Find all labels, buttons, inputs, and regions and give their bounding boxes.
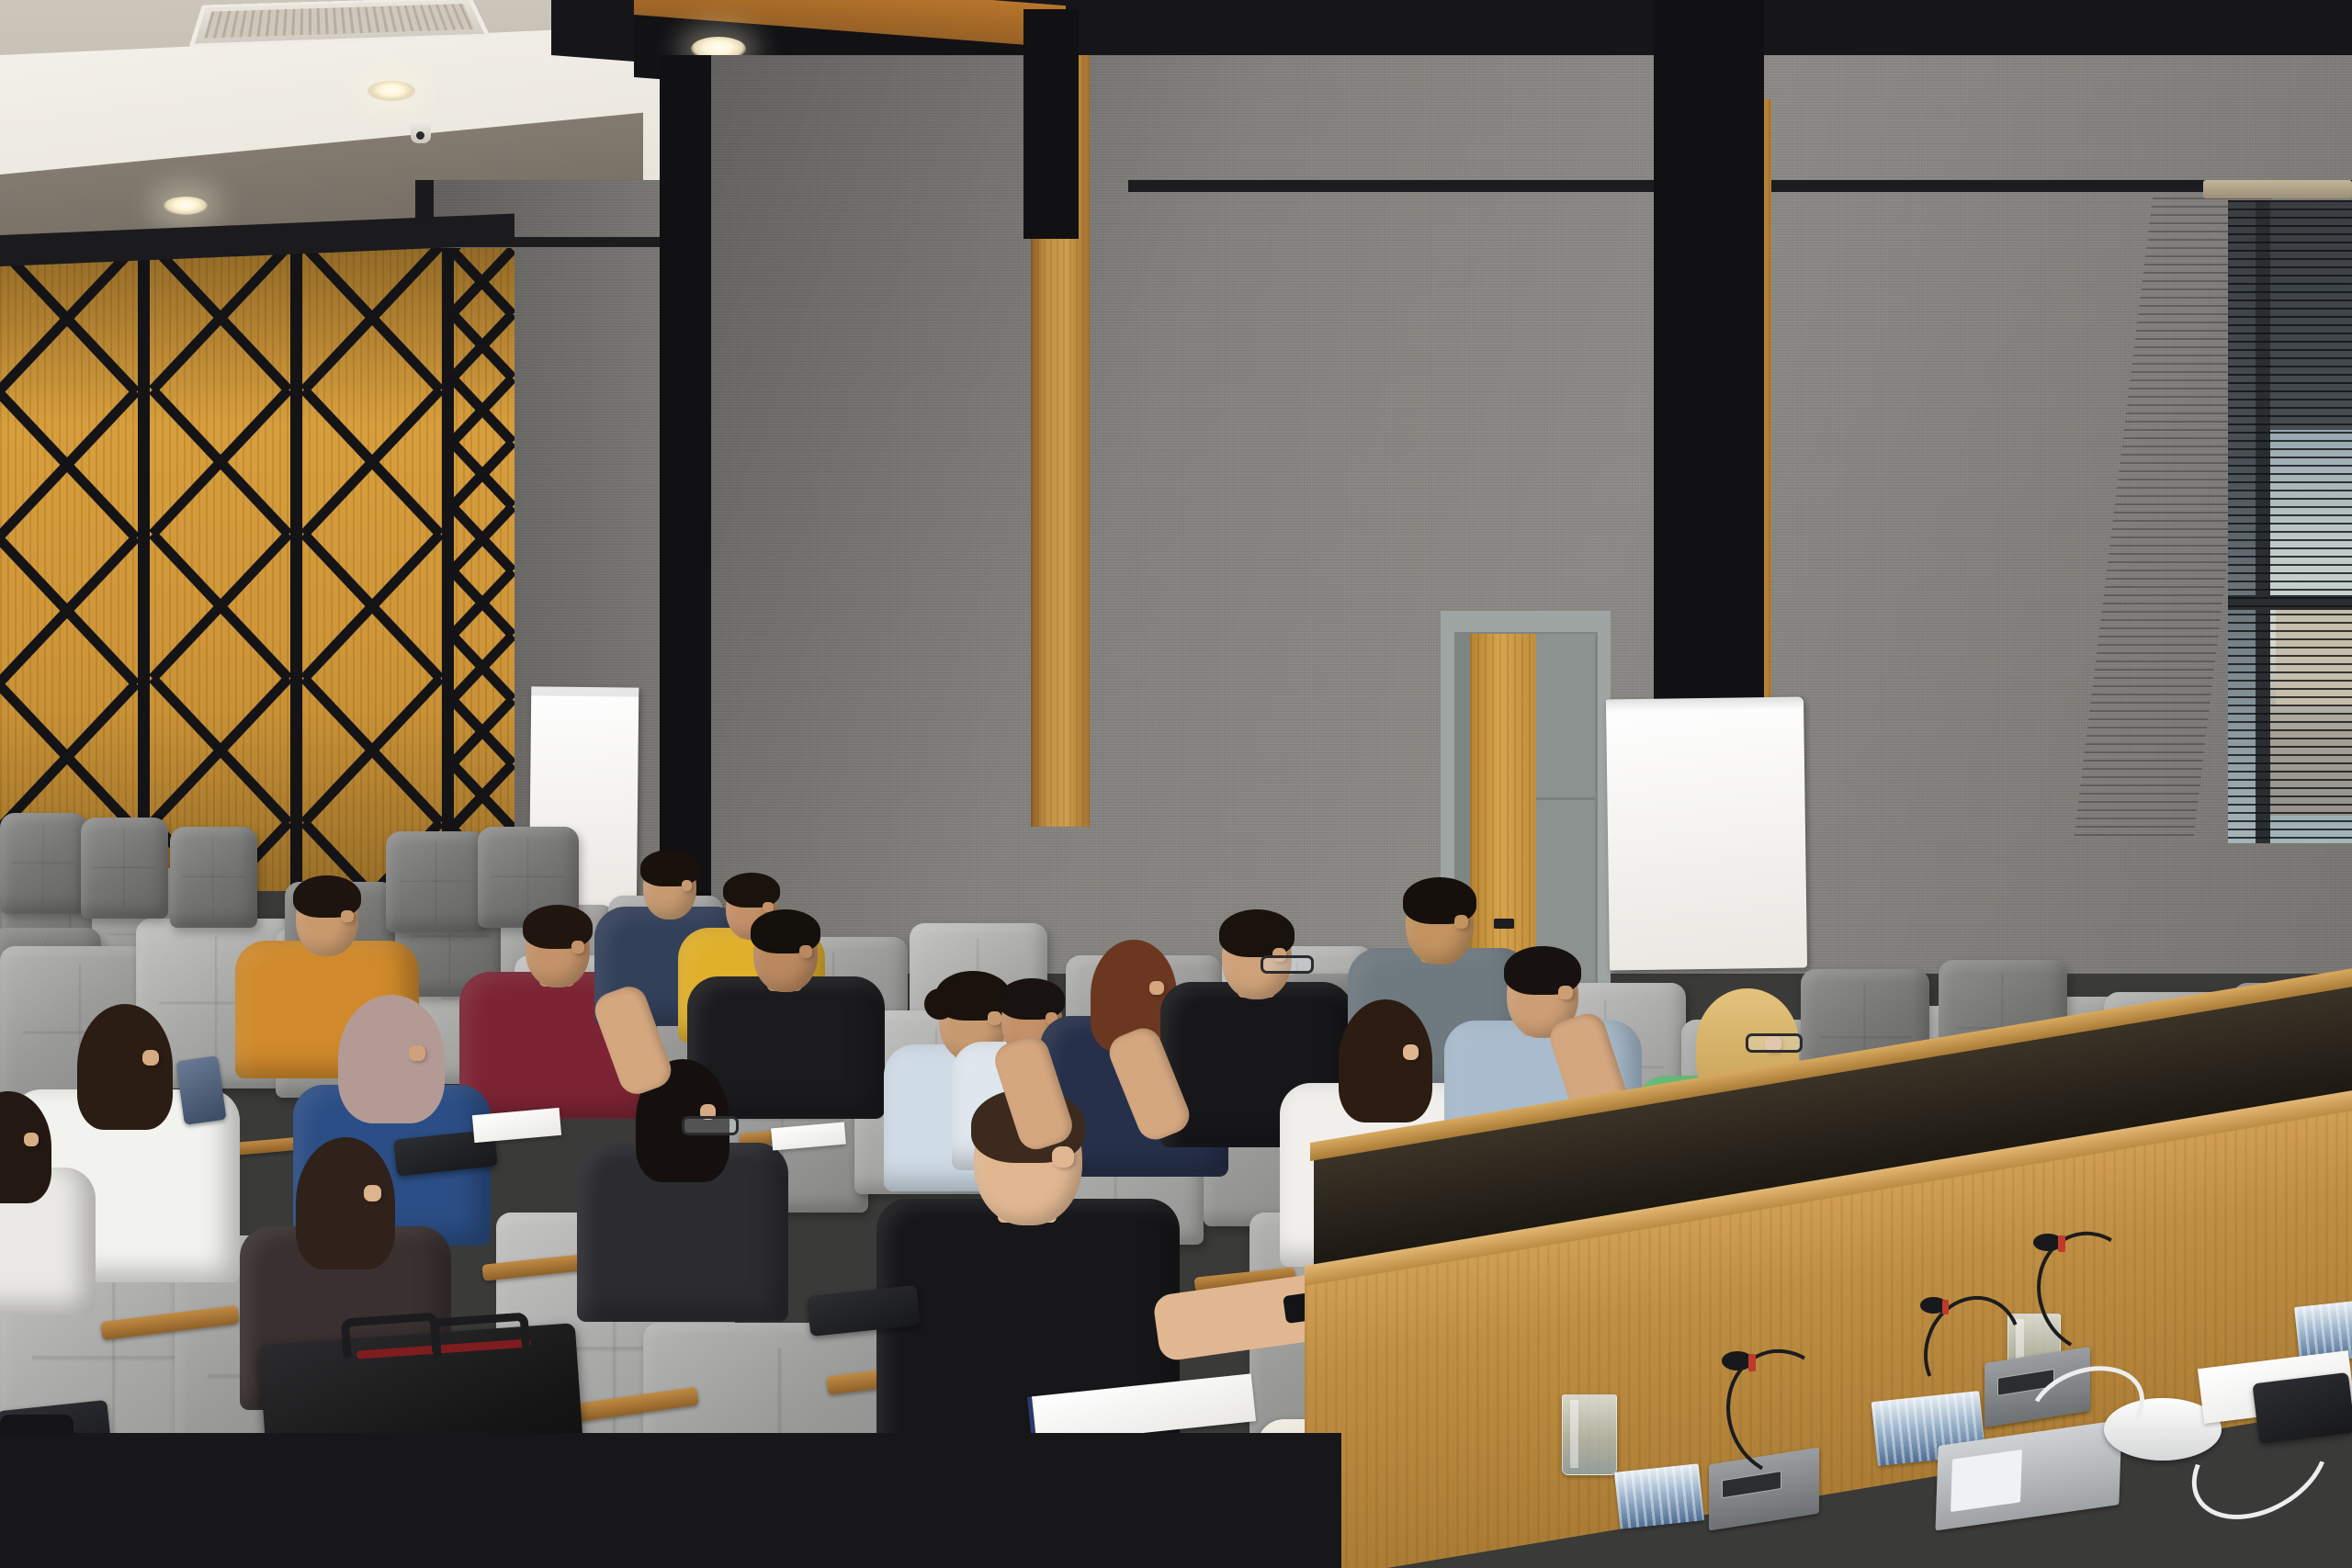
tablet-folder xyxy=(2252,1372,2352,1444)
entry-door[interactable] xyxy=(1470,634,1536,997)
lattice-mullion xyxy=(290,248,302,891)
hair-bun xyxy=(924,988,955,1020)
dark-column-left xyxy=(660,55,711,974)
door-handle-icon[interactable] xyxy=(1494,919,1514,929)
auditorium-seat[interactable] xyxy=(170,827,257,928)
eyeglasses-icon xyxy=(1746,1033,1803,1053)
flipchart-paper-right xyxy=(1606,697,1807,971)
venetian-blinds[interactable] xyxy=(2228,200,2352,843)
downlight-icon xyxy=(164,197,208,215)
eyeglasses-icon xyxy=(1261,955,1314,974)
person-hair xyxy=(77,1004,173,1130)
person-nose xyxy=(1403,1044,1419,1060)
person-nose xyxy=(799,945,812,958)
person-hair xyxy=(1339,999,1432,1122)
wood-lattice-wall xyxy=(0,248,514,891)
microphone-indicator-ring xyxy=(1942,1300,1949,1314)
dark-column-right xyxy=(1654,0,1764,790)
person-nose xyxy=(24,1133,39,1146)
microphone-indicator-ring xyxy=(1748,1354,1757,1371)
water-glass xyxy=(1562,1394,1617,1475)
security-camera-icon xyxy=(411,119,431,143)
person-nose xyxy=(988,1011,1001,1024)
downlight-icon xyxy=(367,81,415,101)
person-nose xyxy=(1558,986,1573,999)
door-side-panel xyxy=(1536,634,1595,997)
person-nose xyxy=(1052,1146,1074,1168)
bottled-water-pack xyxy=(1614,1463,1704,1529)
person-hair xyxy=(338,995,445,1123)
person-nose xyxy=(341,910,354,922)
window-with-blinds xyxy=(2228,200,2352,843)
person-nose xyxy=(364,1185,380,1201)
person-nose xyxy=(682,880,693,890)
person-hair xyxy=(296,1137,395,1269)
dark-column-center xyxy=(1023,9,1079,239)
person-nose xyxy=(409,1045,425,1061)
auditorium-photo xyxy=(0,0,2352,1568)
bag-handle xyxy=(341,1312,441,1358)
lattice-mullion xyxy=(138,248,150,891)
person-nose xyxy=(1454,915,1468,928)
auditorium-seat[interactable] xyxy=(386,831,487,932)
floor-shadow xyxy=(0,1433,1341,1568)
smartphone-icon[interactable] xyxy=(175,1055,226,1125)
blind-head-rail xyxy=(2203,180,2352,198)
auditorium-seat[interactable] xyxy=(81,818,168,919)
person-nose xyxy=(142,1050,159,1066)
person-nose xyxy=(571,941,584,953)
eyeglasses-icon xyxy=(682,1116,739,1135)
person-nose xyxy=(1149,981,1164,995)
auditorium-seat[interactable] xyxy=(0,813,87,914)
bag-handle xyxy=(431,1312,531,1358)
microphone-indicator-ring xyxy=(2058,1235,2065,1252)
